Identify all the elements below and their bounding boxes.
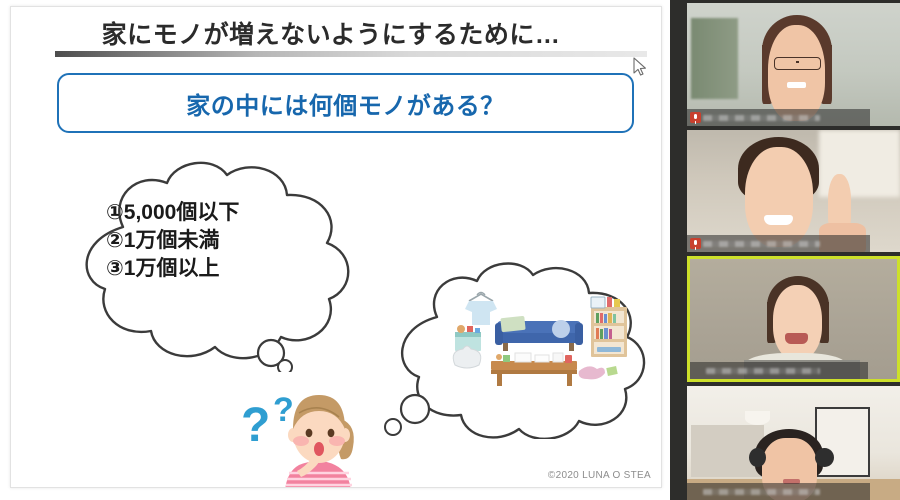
mic-muted-icon-2[interactable] [690, 238, 701, 249]
copyright-notice: ©2020 LUNA O STEA [548, 470, 651, 481]
background-pendant-lamp [745, 411, 771, 425]
participant-tile-3[interactable] [687, 256, 900, 382]
participant-mouth [764, 215, 794, 225]
question-callout-box: 家の中には何個モノがある？ [57, 73, 634, 133]
option-2: ②1万個未満 [106, 227, 346, 255]
participant-tile-2[interactable] [687, 130, 900, 252]
headset-icon-left [749, 448, 766, 467]
participant-tile-4[interactable] [687, 386, 900, 500]
blurred-name-text [703, 489, 820, 495]
participant-mouth [785, 333, 808, 344]
slide-title: 家にモノが増えないようにするために… [11, 15, 651, 51]
blurred-name-text [703, 241, 820, 247]
participant-face [745, 147, 813, 247]
blurred-name-text [703, 115, 820, 121]
blurred-name-text [706, 368, 820, 374]
participant-name-label-4 [687, 483, 870, 500]
question-text: 家の中には何個モノがある？ [186, 86, 505, 121]
participant-video-feed-1 [687, 3, 900, 126]
option-1: ①5,000個以下 [106, 199, 346, 227]
participant-video-panel [670, 0, 900, 500]
participant-video-feed-2 [687, 130, 900, 252]
participant-mouth [787, 82, 806, 88]
raised-finger [828, 174, 851, 230]
mic-muted-icon-1[interactable] [690, 112, 701, 123]
participant-name-label-1 [687, 109, 870, 126]
title-divider-rule [55, 51, 647, 57]
participant-tile-1[interactable] [687, 3, 900, 126]
mouse-cursor [633, 57, 647, 77]
presentation-slide[interactable]: 家にモノが増えないようにするために… 家の中には何個モノがある？ ①5,000個… [10, 6, 662, 488]
option-3: ③1万個以上 [106, 255, 346, 283]
participant-name-label-3 [690, 362, 868, 379]
participant-face [768, 25, 826, 121]
question-mark-small: ? [273, 391, 294, 429]
options-list: ①5,000個以下 ②1万個未満 ③1万個以上 [106, 199, 346, 283]
participant-video-feed-3 [690, 259, 897, 379]
shared-screen-region: 家にモノが増えないようにするために… 家の中には何個モノがある？ ①5,000個… [0, 0, 670, 500]
question-mark-large: ? [241, 399, 270, 452]
participant-face [773, 285, 823, 359]
glasses-icon [774, 57, 821, 70]
thinking-woman-illustration: ? ? [239, 379, 369, 488]
participant-name-label-2 [687, 235, 870, 252]
cluttered-room-illustration [441, 285, 631, 390]
headset-icon-right [815, 448, 834, 467]
screen-share-window: 家にモノが増えないようにするために… 家の中には何個モノがある？ ①5,000個… [0, 0, 900, 500]
background-shelf [691, 18, 738, 99]
